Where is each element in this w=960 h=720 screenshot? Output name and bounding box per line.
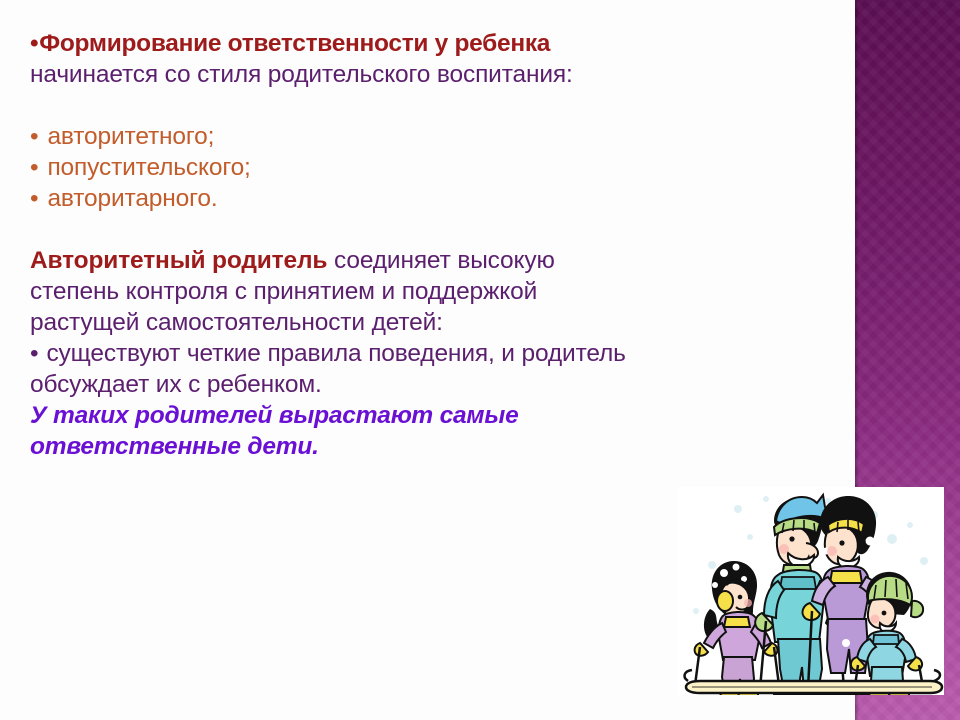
conclusion-line-2: ответственные дети. <box>30 431 842 462</box>
paragraph-lead: Авторитетный родитель <box>30 247 327 274</box>
heading-line-1: Формирование ответственности у ребенка <box>30 28 842 59</box>
cartoon-family-skiing-illustration <box>678 487 944 695</box>
conclusion-line-1: У таких родителей вырастают самые <box>30 400 842 431</box>
list-item-authoritarian: авторитарного. <box>30 183 842 214</box>
list-item-authoritative: авторитетного; <box>30 121 842 152</box>
heading-line-2: начинается со стиля родительского воспит… <box>30 59 842 90</box>
paragraph-line-2: степень контроля с принятием и поддержко… <box>30 276 842 307</box>
paragraph-bullet-rules: существуют четкие правила поведения, и р… <box>30 338 842 369</box>
spacer-2 <box>30 214 842 245</box>
paragraph-line-5: обсуждает их с ребенком. <box>30 369 842 400</box>
slide-text-block: Формирование ответственности у ребенка н… <box>30 28 842 462</box>
paragraph-line-1-rest: соединяет высокую <box>327 247 554 274</box>
paragraph-line-3: растущей самостоятельности детей: <box>30 307 842 338</box>
paragraph-line-1: Авторитетный родитель соединяет высокую <box>30 245 842 276</box>
spacer-1 <box>30 90 842 121</box>
list-item-permissive: попустительского; <box>30 152 842 183</box>
slide-canvas: Формирование ответственности у ребенка н… <box>0 0 960 720</box>
